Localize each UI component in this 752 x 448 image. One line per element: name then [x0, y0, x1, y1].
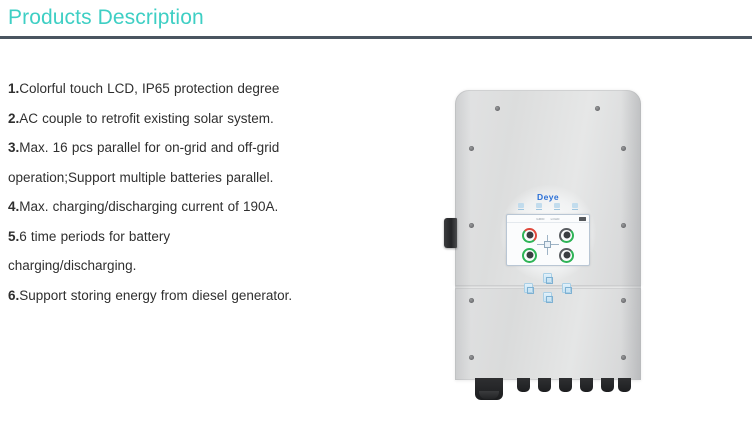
list-item: 1.Colorful touch LCD, IP65 protection de…: [8, 74, 298, 104]
description-list: 1.Colorful touch LCD, IP65 protection de…: [8, 74, 298, 310]
nav-enter-button[interactable]: [543, 292, 552, 302]
section-header: Products Description: [0, 0, 752, 39]
lcd-status-left: GRID: [536, 217, 544, 221]
list-item-text: 6 time periods for battery charging/disc…: [8, 229, 170, 274]
screw-icon: [621, 298, 626, 303]
screw-icon: [595, 106, 600, 111]
led-indicator-icon: [536, 203, 542, 210]
list-item-number: 2.: [8, 111, 19, 126]
led-indicator-row: [455, 203, 641, 210]
screw-icon: [469, 298, 474, 303]
screw-icon: [495, 106, 500, 111]
lcd-display: GRID LOAD: [506, 214, 590, 266]
cable-gland: [559, 378, 572, 392]
list-item: 4.Max. charging/discharging current of 1…: [8, 192, 298, 222]
list-item-text: Colorful touch LCD, IP65 protection degr…: [19, 81, 279, 96]
screw-icon: [469, 355, 474, 360]
cable-gland-large: [475, 378, 503, 400]
screw-icon: [621, 146, 626, 151]
lcd-status-right: LOAD: [551, 217, 560, 221]
list-item: 5.6 time periods for battery charging/di…: [8, 222, 298, 281]
screw-icon: [621, 223, 626, 228]
page-title: Products Description: [0, 0, 752, 34]
nav-right-button[interactable]: [562, 283, 571, 293]
nav-up-button[interactable]: [543, 273, 552, 283]
brand-logo: Deye: [455, 192, 641, 202]
lcd-gauge-grid: [507, 223, 589, 266]
list-item-number: 3.: [8, 140, 19, 155]
cable-gland: [538, 378, 551, 392]
list-item-number: 4.: [8, 199, 19, 214]
product-description-page: Products Description 1.Colorful touch LC…: [0, 0, 752, 448]
navigation-button-pad: [506, 272, 590, 302]
list-item-text: Max. charging/discharging current of 190…: [19, 199, 278, 214]
list-item-number: 5.: [8, 229, 19, 244]
energy-flow-diagram: [535, 234, 561, 256]
list-item-number: 6.: [8, 288, 19, 303]
cable-gland: [601, 378, 614, 392]
led-indicator-icon: [518, 203, 524, 210]
screw-icon: [621, 355, 626, 360]
title-divider: [0, 36, 752, 39]
screw-icon: [469, 146, 474, 151]
battery-icon: [579, 217, 586, 221]
inverter-device: Deye GRID LOAD: [455, 90, 641, 380]
list-item: 6.Support storing energy from diesel gen…: [8, 281, 298, 311]
cable-gland: [618, 378, 631, 392]
list-item: 3.Max. 16 pcs parallel for on-grid and o…: [8, 133, 298, 192]
led-indicator-icon: [554, 203, 560, 210]
dc-isolator-switch: [444, 218, 457, 248]
nav-left-button[interactable]: [524, 283, 533, 293]
cable-gland: [517, 378, 530, 392]
cable-gland: [580, 378, 593, 392]
list-item: 2.AC couple to retrofit existing solar s…: [8, 104, 298, 134]
list-item-text: AC couple to retrofit existing solar sys…: [19, 111, 274, 126]
list-item-text: Max. 16 pcs parallel for on-grid and off…: [8, 140, 279, 185]
list-item-number: 1.: [8, 81, 19, 96]
product-image: Deye GRID LOAD: [430, 78, 670, 408]
list-item-text: Support storing energy from diesel gener…: [19, 288, 292, 303]
led-indicator-icon: [572, 203, 578, 210]
screw-icon: [469, 223, 474, 228]
lcd-status-bar: GRID LOAD: [507, 215, 589, 223]
cable-gland-row: [455, 378, 641, 404]
